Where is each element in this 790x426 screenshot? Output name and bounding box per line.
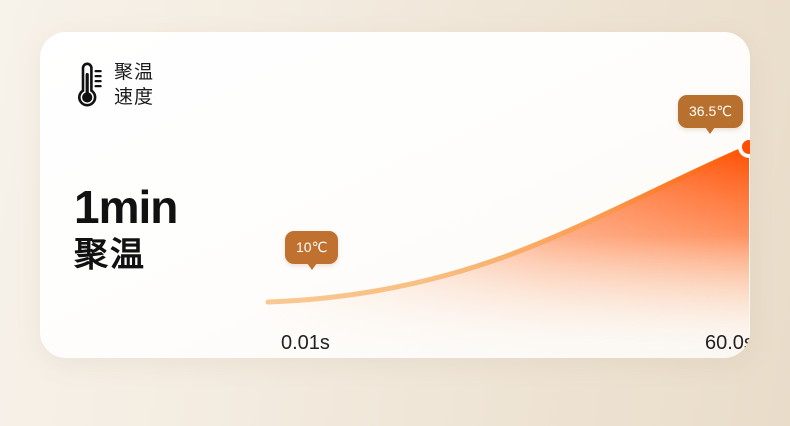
highlight-group: 1min 聚温: [74, 182, 177, 276]
headline-line-2: 速度: [114, 85, 154, 110]
temperature-chart: [232, 88, 750, 358]
headline-text: 聚温 速度: [114, 60, 154, 110]
x-axis-label-start: 0.01s: [281, 332, 330, 355]
headline-group: 聚温 速度: [72, 60, 154, 110]
end-temperature-badge: 36.5℃: [678, 95, 743, 128]
start-temperature-badge: 10℃: [285, 231, 338, 264]
page-root: 聚温 速度 1min 聚温: [0, 0, 790, 426]
highlight-label: 聚温: [74, 234, 177, 276]
x-axis-label-end: 60.0s: [705, 332, 750, 355]
chart-curve: [232, 88, 750, 358]
headline-line-1: 聚温: [114, 60, 154, 85]
thermometer-icon: [72, 61, 102, 109]
highlight-value: 1min: [74, 182, 177, 232]
feature-card: 聚温 速度 1min 聚温: [40, 32, 750, 358]
